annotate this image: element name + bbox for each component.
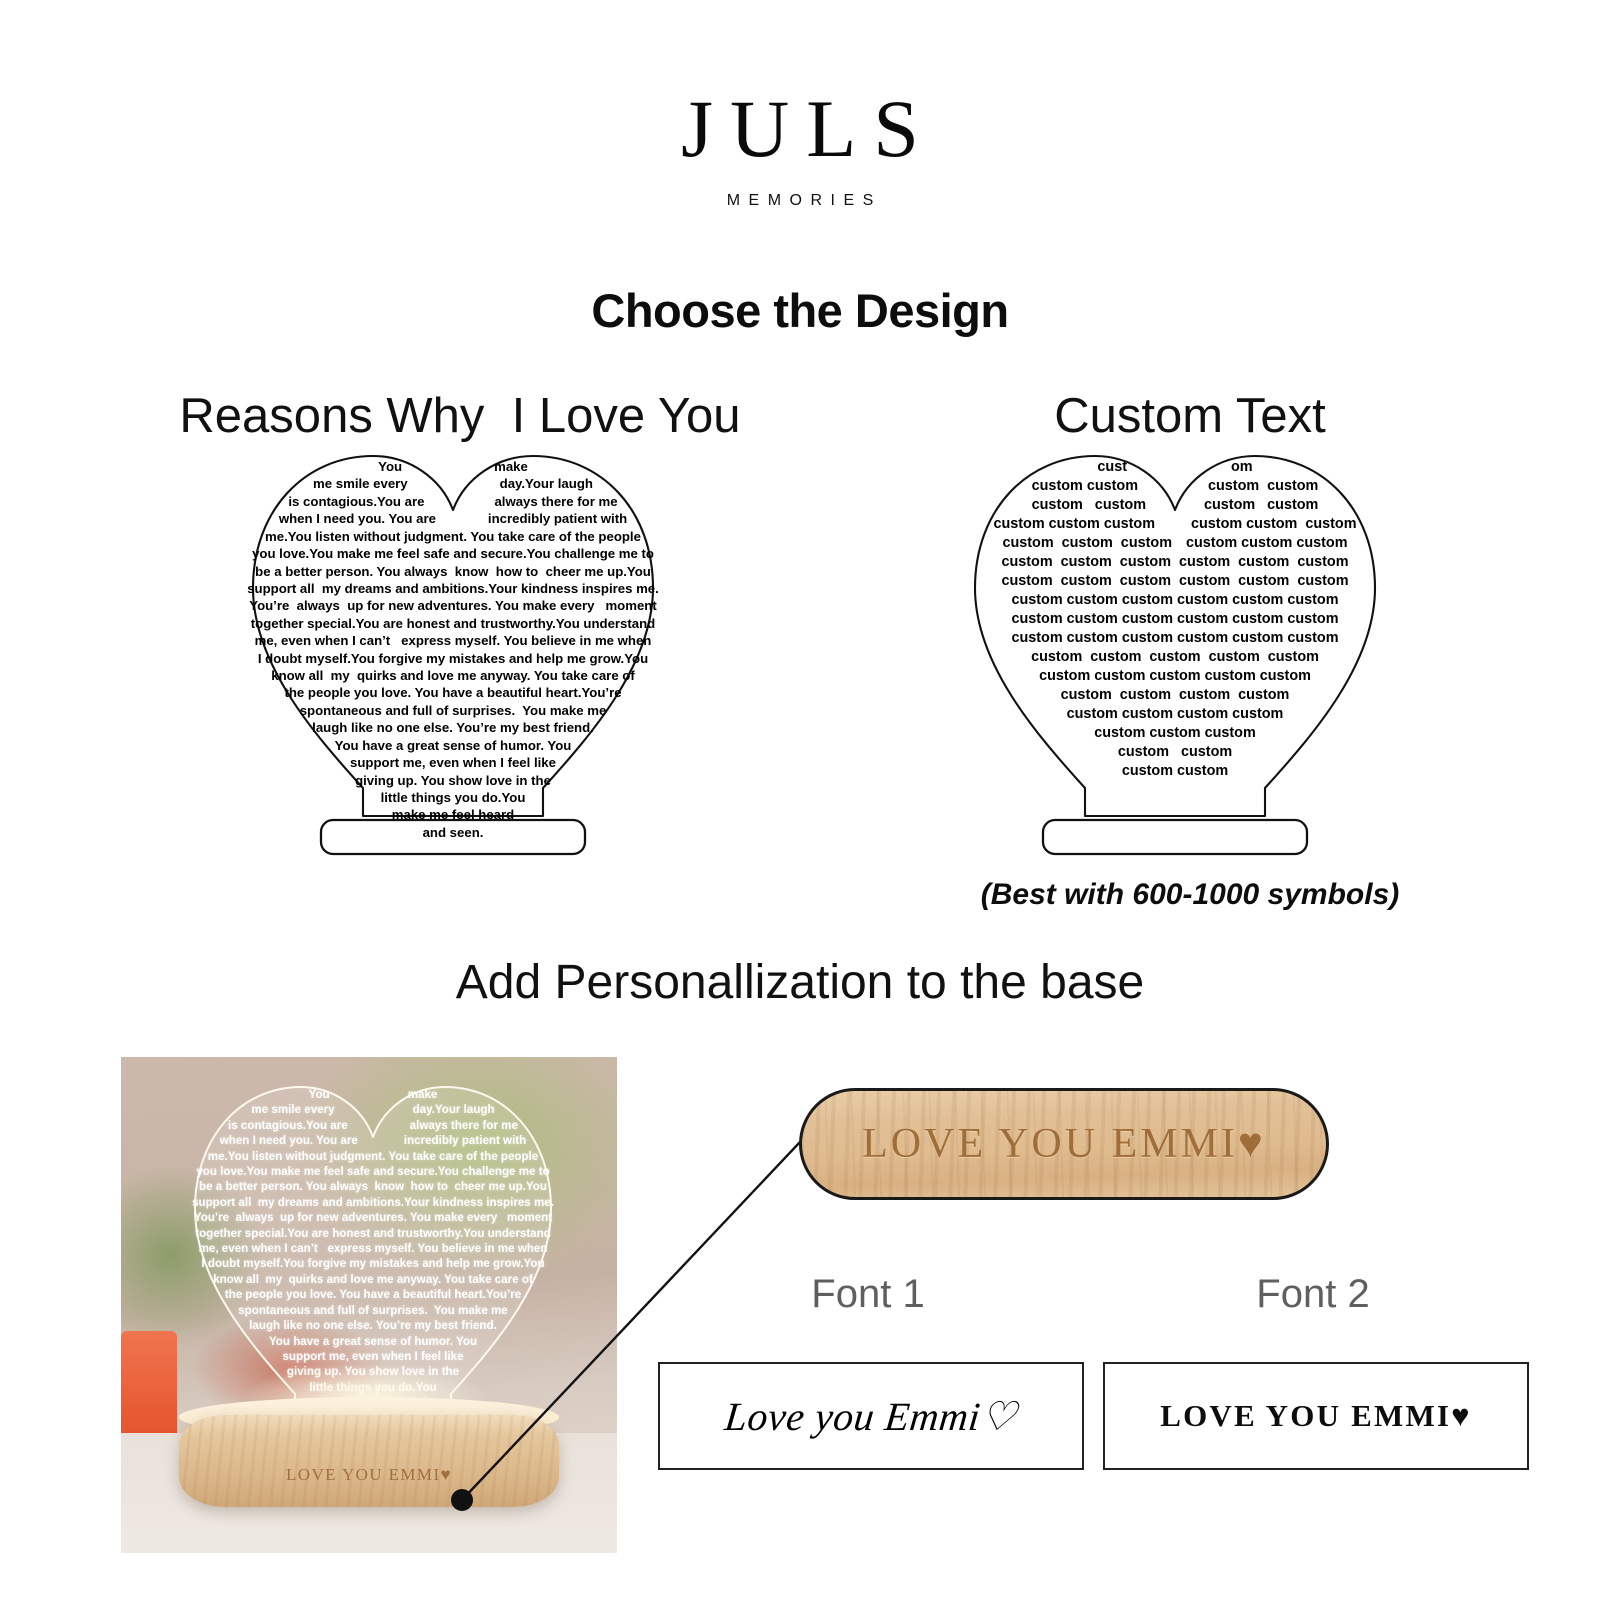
font-1-option[interactable]: Love you Emmi♡ [658,1362,1084,1470]
font-1-label: Font 1 [658,1272,1078,1317]
wood-base-swatch[interactable]: LOVE YOU EMMI♥ [799,1088,1329,1200]
heart-shape-svg [935,448,1415,868]
heart-shape-svg [213,448,693,868]
font-2-option[interactable]: LOVE YOU EMMI♥ [1103,1362,1529,1470]
design-option-right-title: Custom Text [790,388,1590,444]
wood-base-in-photo [179,1415,559,1507]
brand-name: JULS [0,88,1600,170]
custom-text-symbol-note: (Best with 600-1000 symbols) [790,878,1590,912]
heart-outline-reasons-why[interactable]: You make me smile every day.Your laugh i… [213,448,693,868]
design-option-left-title: Reasons Why I Love You [60,388,860,444]
brand-logo: JULS MEMORIES [0,88,1600,210]
font-1-sample-text: Love you Emmi♡ [723,1393,1020,1440]
heart-outline-custom-text[interactable]: cust om custom custom custom custom cust… [935,448,1415,868]
wood-swatch-engraving: LOVE YOU EMMI♥ [862,1120,1266,1168]
font-2-sample-text: LOVE YOU EMMI♥ [1160,1398,1472,1434]
brand-tagline: MEMORIES [0,192,1600,210]
font-2-label: Font 2 [1103,1272,1523,1317]
choose-design-heading: Choose the Design [0,283,1600,338]
product-photo: You make me smile every day.Your laugh i… [121,1057,617,1553]
personalization-heading: Add Personallization to the base [0,955,1600,1010]
photo-base-engraving: LOVE YOU EMMI♥ [179,1465,559,1485]
